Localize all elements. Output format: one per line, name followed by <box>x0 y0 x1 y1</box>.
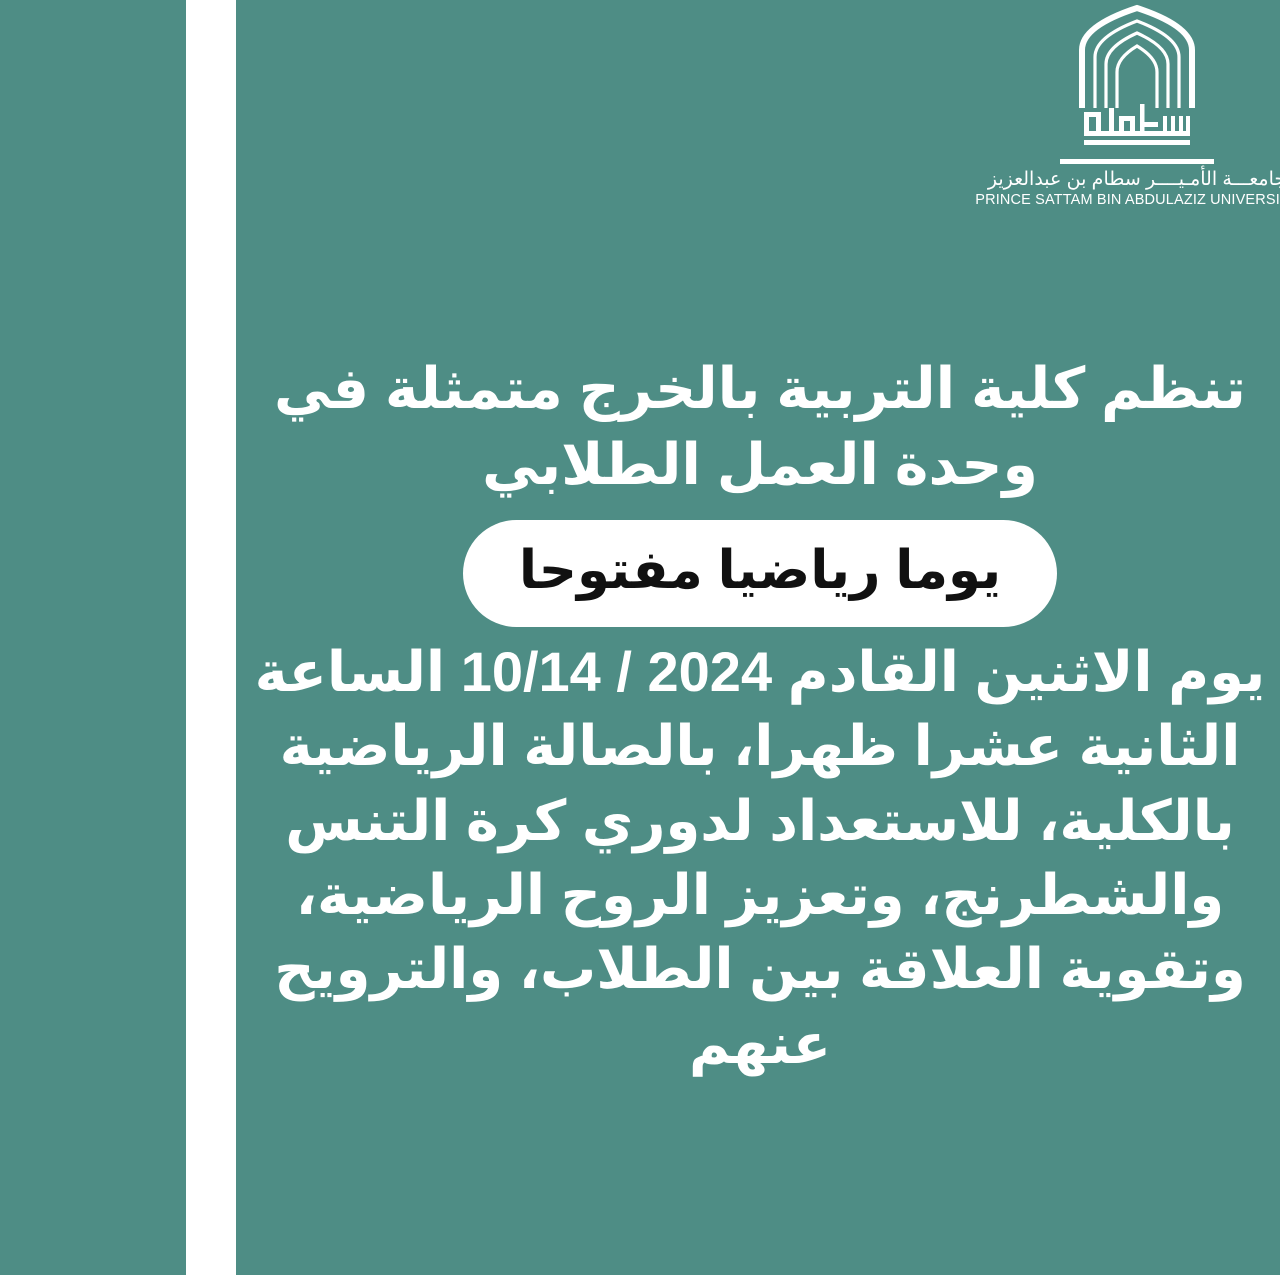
university-logo: جامعـــة الأمـيــــر سطام بن عبدالعزيز P… <box>1002 4 1272 209</box>
event-badge: يوما رياضيا مفتوحا <box>463 520 1057 627</box>
background-band-left <box>0 0 186 1275</box>
announcement-headline: تنظم كلية التربية بالخرج متمثلة في وحدة … <box>248 352 1272 504</box>
prince-sattam-arch-logo-icon <box>1076 4 1198 156</box>
logo-english-name: PRINCE SATTAM BIN ABDULAZIZ UNIVERSITY <box>975 193 1280 209</box>
logo-arabic-name: جامعـــة الأمـيــــر سطام بن عبدالعزيز <box>988 170 1280 191</box>
logo-divider-rule <box>1060 159 1214 164</box>
announcement-content: تنظم كلية التربية بالخرج متمثلة في وحدة … <box>248 352 1272 1081</box>
announcement-details: يوم الاثنين القادم 2024 / 10/14 الساعة ا… <box>248 635 1272 1082</box>
event-badge-row: يوما رياضيا مفتوحا <box>248 520 1272 627</box>
background-white-stripe <box>186 0 236 1275</box>
announcement-poster: جامعـــة الأمـيــــر سطام بن عبدالعزيز P… <box>0 0 1280 1275</box>
sattam-kufic-wordmark-icon <box>1084 104 1190 145</box>
